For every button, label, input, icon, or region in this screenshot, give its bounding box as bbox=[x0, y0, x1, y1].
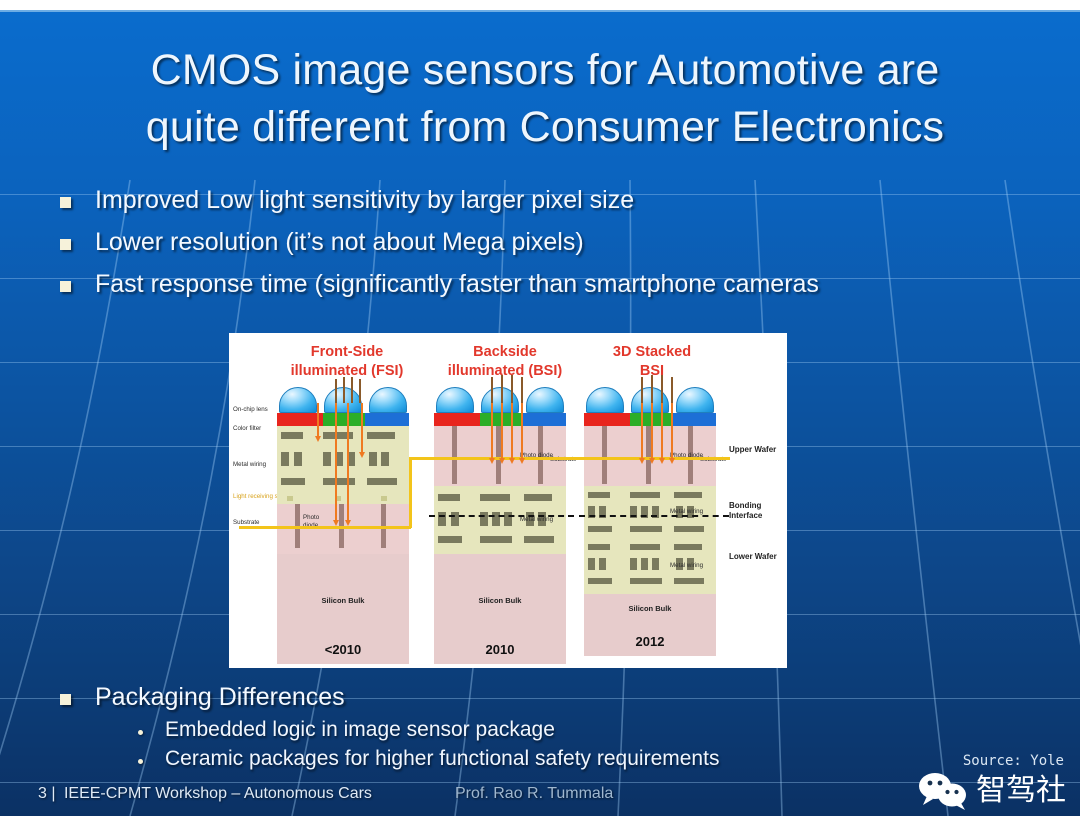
light-ray bbox=[361, 403, 363, 453]
metal-block bbox=[674, 492, 702, 498]
light-ray bbox=[317, 403, 319, 437]
color-filter-blue bbox=[672, 413, 716, 426]
column-title-bsi: Backside illuminated (BSI) bbox=[425, 343, 585, 380]
light-ray bbox=[491, 403, 493, 459]
light-ray bbox=[661, 403, 663, 459]
bullet-text: Fast response time (significantly faster… bbox=[95, 270, 819, 299]
footer: 3 | IEEE-CPMT Workshop – Autonomous Cars bbox=[38, 785, 372, 803]
diagram-column-3d-stacked: Photo diode Substrate Metal wiring bbox=[584, 385, 716, 656]
photo-diode bbox=[602, 426, 607, 484]
substrate-layer: Photo diode Substrate bbox=[584, 426, 716, 486]
metal-block bbox=[524, 536, 554, 543]
metal-block bbox=[588, 578, 612, 584]
light-ray bbox=[671, 377, 673, 403]
metal-block bbox=[588, 526, 612, 532]
metal-block bbox=[588, 544, 610, 550]
page-title: CMOS image sensors for Automotive are qu… bbox=[70, 42, 1020, 156]
metal-block bbox=[323, 452, 331, 466]
light-ray bbox=[641, 403, 643, 459]
silicon-bulk-layer: Silicon Bulk <2010 bbox=[277, 554, 409, 664]
light-surface-line bbox=[584, 457, 730, 460]
metal-block bbox=[281, 478, 305, 485]
metal-block bbox=[674, 526, 704, 532]
light-ray bbox=[491, 377, 493, 403]
metal-block bbox=[599, 558, 606, 570]
label-on-chip-lens: On-chip lens bbox=[233, 406, 268, 414]
light-ray bbox=[651, 375, 653, 403]
sensor-architecture-diagram: Front-Side illuminated (FSI) Backside il… bbox=[229, 333, 787, 668]
bullet-text: Lower resolution (it’s not about Mega pi… bbox=[95, 228, 584, 257]
light-ray bbox=[521, 403, 523, 459]
sub-bullet-item: Ceramic packages for higher functional s… bbox=[138, 747, 1000, 771]
on-chip-lens-icon bbox=[481, 387, 519, 413]
wechat-icon bbox=[917, 772, 969, 810]
bullet-text: Packaging Differences bbox=[95, 683, 345, 712]
metal-wiring-layer-upper: Metal wiring bbox=[584, 486, 716, 538]
color-filter-red bbox=[584, 413, 630, 426]
label-metal-wiring: Metal wiring bbox=[233, 461, 266, 469]
label-bonding-interface-text: Bonding Interface bbox=[729, 501, 762, 520]
metal-block bbox=[674, 578, 704, 584]
light-ray bbox=[343, 377, 345, 403]
column-title-line: illuminated (BSI) bbox=[425, 362, 585, 381]
slide-number: 3 | bbox=[38, 785, 56, 802]
color-filter-red bbox=[434, 413, 480, 426]
sub-bullet-text: Embedded logic in image sensor package bbox=[165, 718, 555, 742]
color-filter-row bbox=[584, 413, 716, 426]
label-color-filter: Color filter bbox=[233, 425, 261, 433]
substrate-layer: Photo diode Substrate bbox=[434, 426, 566, 486]
lens-row bbox=[584, 385, 716, 413]
light-ray bbox=[347, 403, 349, 521]
photo-diode bbox=[452, 426, 457, 484]
label-lower-wafer: Lower Wafer bbox=[729, 552, 785, 562]
metal-block bbox=[674, 544, 702, 550]
light-ray bbox=[359, 379, 361, 403]
diagram-headings: Front-Side illuminated (FSI) Backside il… bbox=[229, 343, 787, 383]
light-ray bbox=[501, 375, 503, 403]
light-ray bbox=[521, 377, 523, 403]
metal-block bbox=[641, 558, 648, 570]
diagram-column-fsi: Photodiode Silicon Bulk <2010 bbox=[277, 385, 409, 664]
metal-block bbox=[630, 558, 637, 570]
label-upper-wafer-text: Upper Wafer bbox=[729, 445, 776, 454]
footer-presenter: Prof. Rao R. Tummala bbox=[455, 785, 613, 803]
bullet-item: Improved Low light sensitivity by larger… bbox=[60, 186, 1000, 215]
bullet-item: Fast response time (significantly faster… bbox=[60, 270, 1000, 299]
column-title-line: 3D Stacked bbox=[577, 343, 727, 362]
color-filter-row bbox=[434, 413, 566, 426]
silicon-bulk-layer: Silicon Bulk 2010 bbox=[434, 554, 566, 664]
bullet-square-icon bbox=[60, 239, 71, 250]
column-year-fsi: <2010 bbox=[277, 642, 409, 657]
on-chip-lens-icon bbox=[369, 387, 407, 413]
label-lower-wafer-text: Lower Wafer bbox=[729, 552, 777, 561]
metal-block bbox=[524, 494, 552, 501]
metal-block bbox=[281, 432, 303, 439]
label-upper-wafer: Upper Wafer bbox=[729, 445, 785, 455]
bullet-dot-icon bbox=[138, 759, 143, 764]
metal-block bbox=[281, 452, 289, 466]
lower-bullet-list: Packaging Differences Embedded logic in … bbox=[60, 683, 1000, 771]
silicon-bulk-label: Silicon Bulk bbox=[584, 604, 716, 613]
light-ray bbox=[351, 377, 353, 403]
bonding-interface-line bbox=[429, 515, 574, 517]
silicon-bulk-layer: Silicon Bulk 2012 bbox=[584, 594, 716, 656]
title-line-2: quite different from Consumer Electronic… bbox=[70, 99, 1020, 156]
bullet-item: Lower resolution (it’s not about Mega pi… bbox=[60, 228, 1000, 257]
light-surface-line bbox=[409, 457, 412, 528]
diagram-column-bsi: Photo diode Substrate Metal wiring bbox=[434, 385, 566, 664]
metal-block bbox=[480, 494, 510, 501]
label-bonding-interface: Bonding Interface bbox=[729, 501, 785, 521]
label-metal-wiring-inline: Metal wiring bbox=[670, 562, 703, 570]
wechat-watermark: 智驾社 bbox=[917, 772, 1066, 810]
on-chip-lens-icon bbox=[586, 387, 624, 413]
metal-wiring-layer bbox=[277, 426, 409, 504]
light-ray bbox=[671, 403, 673, 459]
sub-bullet-text: Ceramic packages for higher functional s… bbox=[165, 747, 719, 771]
silicon-bulk-label: Silicon Bulk bbox=[277, 596, 409, 605]
metal-block bbox=[480, 536, 512, 543]
label-metal-wiring-inline: Metal wiring bbox=[520, 516, 553, 524]
bullet-text: Improved Low light sensitivity by larger… bbox=[95, 186, 634, 215]
column-title-line: illuminated (FSI) bbox=[267, 362, 427, 381]
metal-block bbox=[588, 492, 610, 498]
metal-block bbox=[438, 536, 462, 543]
light-ray bbox=[501, 403, 503, 459]
metal-block bbox=[367, 478, 397, 485]
wechat-account-name: 智驾社 bbox=[976, 776, 1066, 806]
on-chip-lens-icon bbox=[279, 387, 317, 413]
on-chip-lens-icon bbox=[526, 387, 564, 413]
bullet-dot-icon bbox=[138, 730, 143, 735]
metal-block bbox=[369, 452, 377, 466]
on-chip-lens-icon bbox=[631, 387, 669, 413]
bullet-square-icon bbox=[60, 197, 71, 208]
silicon-bulk-label: Silicon Bulk bbox=[434, 596, 566, 605]
light-surface-line bbox=[275, 526, 411, 529]
metal-block bbox=[381, 452, 389, 466]
metal-block bbox=[630, 492, 660, 498]
title-line-1: CMOS image sensors for Automotive are bbox=[70, 42, 1020, 99]
light-surface-line bbox=[239, 526, 277, 529]
column-year-bsi: 2010 bbox=[434, 642, 566, 657]
metal-wiring-layer-lower: Metal wiring bbox=[584, 538, 716, 594]
source-attribution: Source: Yole bbox=[963, 753, 1064, 769]
on-chip-lens-icon bbox=[436, 387, 474, 413]
color-filter-blue bbox=[365, 413, 409, 426]
bullet-list: Improved Low light sensitivity by larger… bbox=[60, 186, 1000, 311]
slide-canvas: CMOS image sensors for Automotive are qu… bbox=[0, 0, 1080, 834]
footer-event-title: IEEE-CPMT Workshop – Autonomous Cars bbox=[64, 785, 372, 802]
column-title-line: Front-Side bbox=[267, 343, 427, 362]
bullet-item-packaging: Packaging Differences bbox=[60, 683, 1000, 712]
light-ray bbox=[511, 375, 513, 403]
light-ray bbox=[335, 379, 337, 403]
bonding-interface-line bbox=[579, 515, 729, 517]
metal-block bbox=[630, 544, 660, 550]
light-ray bbox=[641, 377, 643, 403]
metal-block bbox=[438, 494, 460, 501]
metal-block bbox=[287, 496, 293, 501]
metal-block bbox=[323, 478, 355, 485]
metal-block bbox=[588, 558, 595, 570]
column-title-fsi: Front-Side illuminated (FSI) bbox=[267, 343, 427, 380]
bullet-square-icon bbox=[60, 694, 71, 705]
light-ray bbox=[661, 375, 663, 403]
metal-block bbox=[630, 526, 662, 532]
sub-bullet-item: Embedded logic in image sensor package bbox=[138, 718, 1000, 742]
color-filter-green bbox=[323, 413, 365, 426]
bullet-square-icon bbox=[60, 281, 71, 292]
on-chip-lens-icon bbox=[676, 387, 714, 413]
metal-block bbox=[652, 558, 659, 570]
metal-block bbox=[294, 452, 302, 466]
metal-block bbox=[367, 432, 395, 439]
column-title-line: Backside bbox=[425, 343, 585, 362]
color-filter-row bbox=[277, 413, 409, 426]
light-ray bbox=[651, 403, 653, 459]
light-ray bbox=[511, 403, 513, 459]
light-ray bbox=[335, 403, 337, 521]
metal-wiring-layer: Metal wiring bbox=[434, 486, 566, 554]
metal-block bbox=[630, 578, 662, 584]
metal-block bbox=[381, 496, 387, 501]
lens-row bbox=[434, 385, 566, 413]
column-year-3d-stacked: 2012 bbox=[584, 634, 716, 649]
substrate-layer: Photodiode bbox=[277, 504, 409, 554]
color-filter-blue bbox=[522, 413, 566, 426]
